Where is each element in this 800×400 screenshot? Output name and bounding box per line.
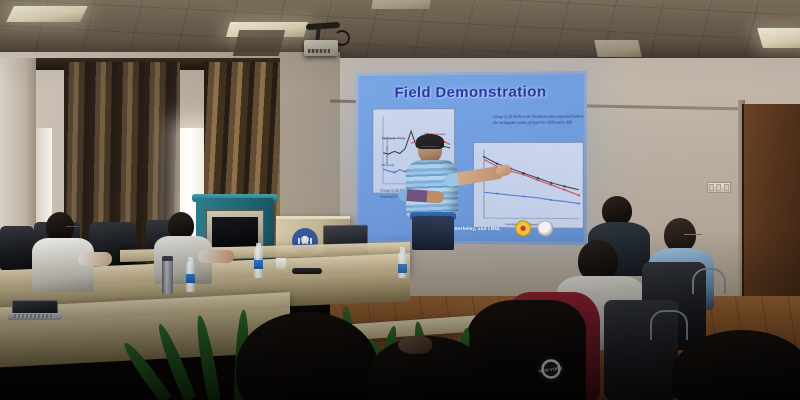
laptop-keyboard[interactable] [7,313,63,320]
presentation-room-photo: Field Demonstration Normalized Water Lev… [0,0,800,400]
recessed-light-1 [6,6,88,22]
ceiling-panel-dark [233,30,285,56]
water-bottle-2[interactable] [254,248,263,278]
paper-cup[interactable] [276,258,286,269]
recessed-light-4 [757,28,800,48]
chair-right-1-armrest[interactable] [692,268,726,294]
slide-note-right: Group of 26 Wells to the Northeast that … [493,115,584,127]
room-door[interactable] [742,104,800,304]
patch-label: NEW YORK [539,365,563,373]
light-switch-plate[interactable] [707,182,731,193]
presenter-trousers [412,216,454,250]
laptop-lid [12,300,58,314]
attendee-white-shirt-glasses [22,212,106,298]
gold-seal-logo-icon [515,220,531,236]
attendee-glasses [684,234,702,239]
recessed-light-5 [371,0,430,9]
presenter [392,136,504,248]
attendee-glasses [66,226,79,230]
recessed-light-3 [594,40,642,57]
switch-toggle-1[interactable] [709,184,714,191]
open-laptop-left[interactable] [8,300,62,320]
switch-toggle-3[interactable] [724,184,729,191]
foreground-hand [398,336,432,354]
slide-title: Field Demonstration [359,83,584,101]
switch-toggle-2[interactable] [716,184,721,191]
chair-right-2-armrest[interactable] [650,310,688,340]
projector-body [304,40,338,56]
plant-leaf [193,314,221,400]
attendee-arm [78,252,112,266]
silver-seal-logo-icon [537,220,553,236]
attendee-arm [198,250,234,263]
series-modeled-markers [509,170,580,196]
presenter-left-arm [398,188,445,203]
remote-control[interactable] [292,268,322,274]
ceiling-projector [300,26,352,56]
water-bottle-3[interactable] [398,252,407,278]
new-york-patch-icon: NEW YORK [538,356,564,382]
presenter-glasses [421,146,439,150]
projector-mount [306,22,340,30]
